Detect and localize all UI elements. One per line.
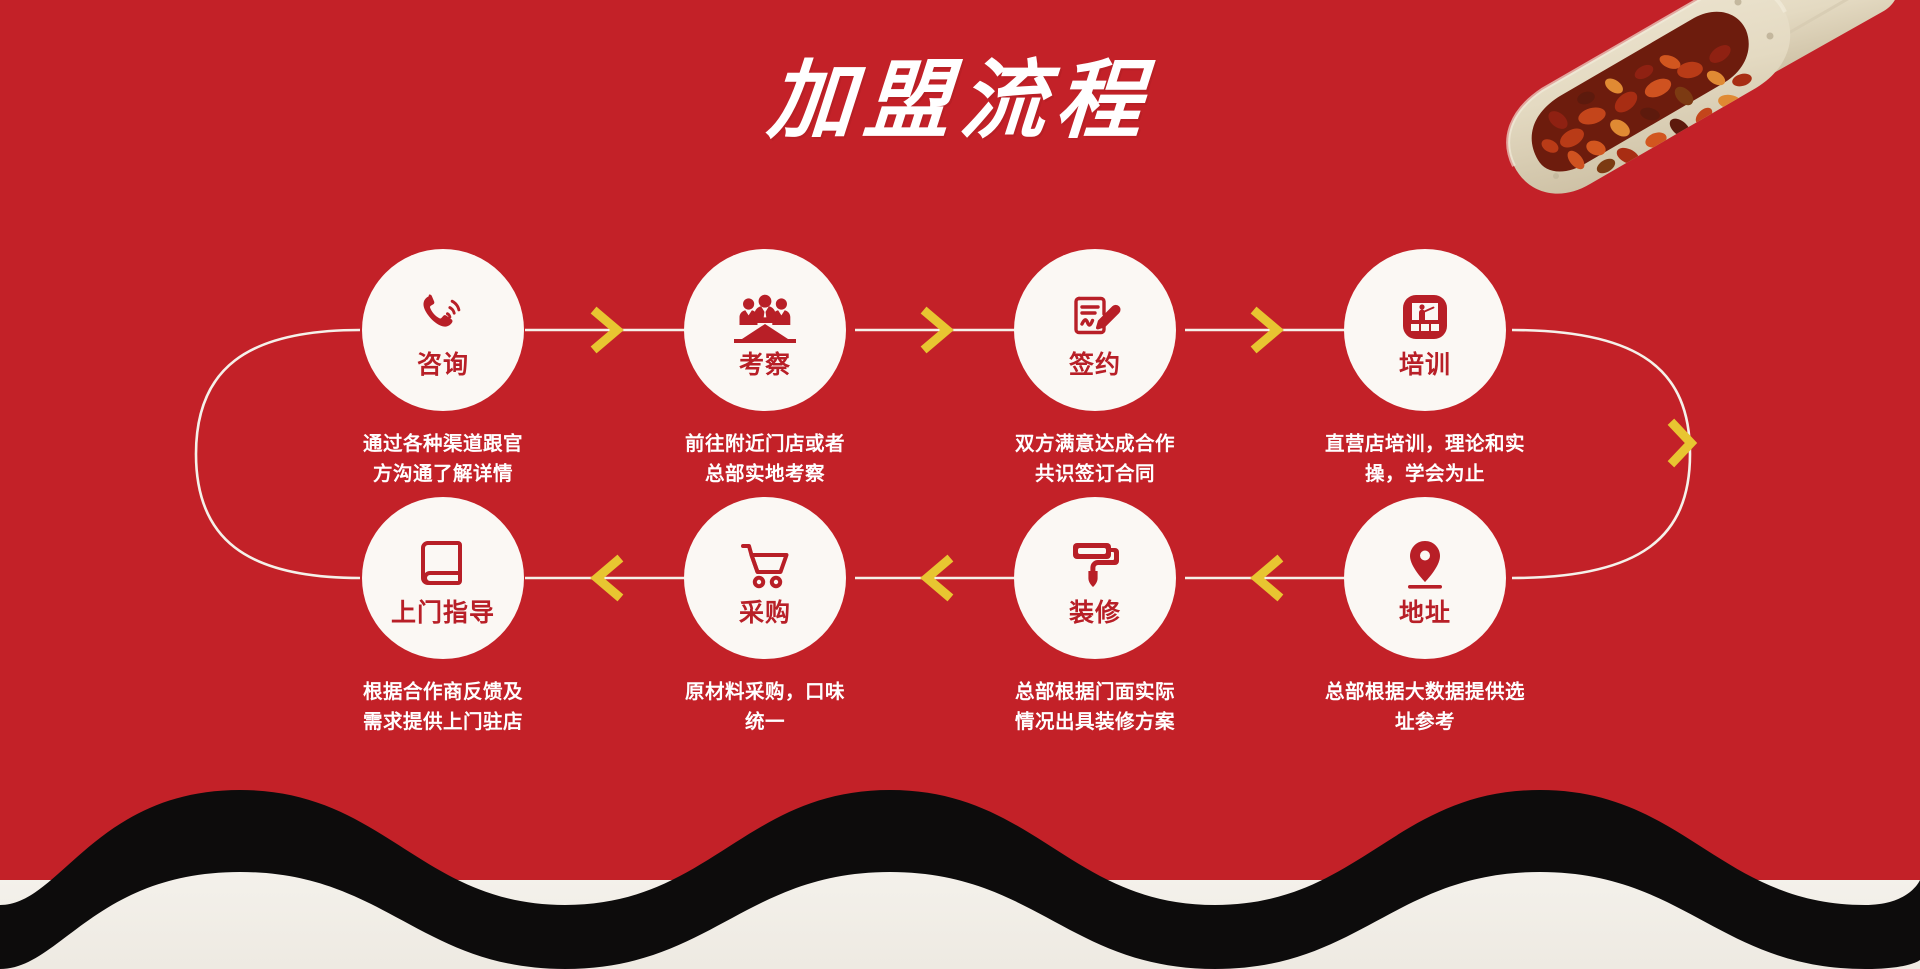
flow-step-onsite-guidance-label: 上门指导 <box>391 601 495 626</box>
desc-line: 总部实地考察 <box>650 459 880 489</box>
desc-line: 址参考 <box>1310 707 1540 737</box>
desc-line: 通过各种渠道跟官 <box>328 429 558 459</box>
desc-line: 原材料采购，口味 <box>650 677 880 707</box>
flow-step-consult[interactable]: 咨询 通过各种渠道跟官 方沟通了解详情 <box>328 249 558 489</box>
flow-step-training-circle[interactable]: 培训 <box>1344 249 1506 411</box>
flow-step-decoration-build[interactable]: 装修 总部根据门面实际 情况出具装修方案 <box>980 497 1210 737</box>
flow-step-inspection-label: 考察 <box>739 353 791 378</box>
flow-step-sign-contract-description: 双方满意达成合作 共识签订合同 <box>980 429 1210 489</box>
people-meeting-icon <box>734 287 796 347</box>
desc-line: 统一 <box>650 707 880 737</box>
page-title-text: 加盟流程 <box>765 58 1155 144</box>
flow-step-decoration-build-description: 总部根据门面实际 情况出具装修方案 <box>980 677 1210 737</box>
desc-line: 双方满意达成合作 <box>980 429 1210 459</box>
desc-line: 共识签订合同 <box>980 459 1210 489</box>
flow-step-onsite-guidance-description: 根据合作商反馈及 需求提供上门驻店 <box>328 677 558 737</box>
desc-line: 总部根据门面实际 <box>980 677 1210 707</box>
contract-signing-icon <box>1067 287 1123 347</box>
flow-step-consult-description: 通过各种渠道跟官 方沟通了解详情 <box>328 429 558 489</box>
flow-step-consult-circle[interactable]: 咨询 <box>362 249 524 411</box>
franchise-flow-diagram: 咨询 通过各种渠道跟官 方沟通了解详情 <box>0 210 1920 770</box>
flow-step-procurement[interactable]: 采购 原材料采购，口味 统一 <box>650 497 880 737</box>
flow-step-procurement-circle[interactable]: 采购 <box>684 497 846 659</box>
flow-step-procurement-description: 原材料采购，口味 统一 <box>650 677 880 737</box>
flow-step-decoration-build-label: 装修 <box>1069 601 1121 626</box>
desc-line: 操，学会为止 <box>1310 459 1540 489</box>
classroom-training-icon <box>1397 287 1453 347</box>
flow-step-training-description: 直营店培训，理论和实 操，学会为止 <box>1310 429 1540 489</box>
flow-step-consult-label: 咨询 <box>417 353 469 378</box>
flow-step-onsite-guidance-circle[interactable]: 上门指导 <box>362 497 524 659</box>
flow-connectors <box>0 210 1920 770</box>
flow-step-sign-contract-circle[interactable]: 签约 <box>1014 249 1176 411</box>
flow-step-location-label: 地址 <box>1399 601 1451 626</box>
flow-step-decoration-build-circle[interactable]: 装修 <box>1014 497 1176 659</box>
poster-canvas: 加盟流程 <box>0 0 1920 969</box>
phone-call-icon <box>415 287 471 347</box>
flow-step-onsite-guidance[interactable]: 上门指导 根据合作商反馈及 需求提供上门驻店 <box>328 497 558 737</box>
desc-line: 直营店培训，理论和实 <box>1310 429 1540 459</box>
desc-line: 情况出具装修方案 <box>980 707 1210 737</box>
flow-step-inspection-circle[interactable]: 考察 <box>684 249 846 411</box>
page-title: 加盟流程 <box>0 58 1920 144</box>
desc-line: 方沟通了解详情 <box>328 459 558 489</box>
desc-line: 总部根据大数据提供选 <box>1310 677 1540 707</box>
flow-step-inspection-description: 前往附近门店或者 总部实地考察 <box>650 429 880 489</box>
desc-line: 根据合作商反馈及 <box>328 677 558 707</box>
flow-step-sign-contract-label: 签约 <box>1069 353 1121 378</box>
book-icon <box>417 535 469 595</box>
flow-step-procurement-label: 采购 <box>739 601 791 626</box>
flow-step-inspection[interactable]: 考察 前往附近门店或者 总部实地考察 <box>650 249 880 489</box>
flow-step-sign-contract[interactable]: 签约 双方满意达成合作 共识签订合同 <box>980 249 1210 489</box>
flow-step-location-description: 总部根据大数据提供选 址参考 <box>1310 677 1540 737</box>
paint-roller-icon <box>1069 535 1121 595</box>
desc-line: 前往附近门店或者 <box>650 429 880 459</box>
flow-step-location[interactable]: 地址 总部根据大数据提供选 址参考 <box>1310 497 1540 737</box>
flow-step-location-circle[interactable]: 地址 <box>1344 497 1506 659</box>
shopping-cart-icon <box>737 535 793 595</box>
map-pin-icon <box>1400 535 1450 595</box>
flow-step-training-label: 培训 <box>1399 353 1451 378</box>
desc-line: 需求提供上门驻店 <box>328 707 558 737</box>
flow-step-training[interactable]: 培训 直营店培训，理论和实 操，学会为止 <box>1310 249 1540 489</box>
